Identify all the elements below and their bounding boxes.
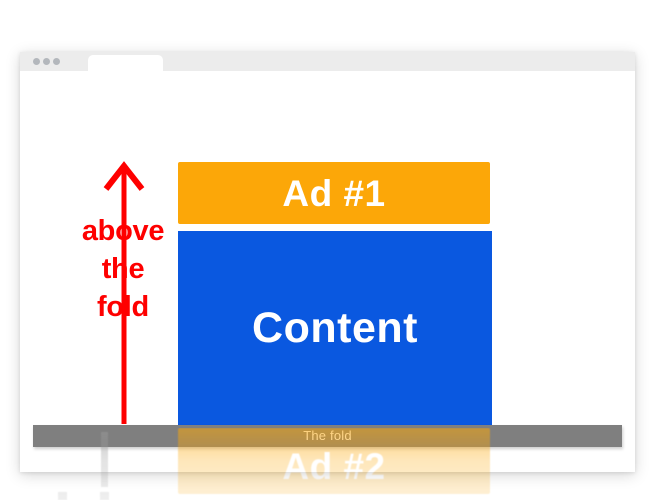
browser-tab[interactable] (88, 55, 163, 71)
window-dot-3-icon[interactable] (53, 58, 60, 65)
ad-one-block[interactable]: Ad #1 (178, 162, 490, 224)
ad-two-label: Ad #2 (178, 446, 490, 488)
window-dot-1-icon[interactable] (33, 58, 40, 65)
content-block[interactable]: Content (178, 231, 492, 426)
browser-window: above the fold Ad #1 Content The fold (20, 52, 635, 472)
ghost-square-2 (100, 492, 109, 500)
above-the-fold-annotation: above the fold (58, 156, 188, 456)
content-label: Content (178, 304, 492, 353)
diagram-canvas: above the fold Ad #1 Content The fold Ad… (0, 0, 660, 500)
ad-one-label: Ad #1 (178, 173, 490, 215)
browser-viewport: above the fold Ad #1 Content The fold (20, 71, 635, 472)
ghost-arrow-tail (101, 432, 108, 487)
above-the-fold-label: above the fold (58, 212, 188, 326)
ghost-square-1 (58, 492, 67, 500)
below-the-fold-region: Ad #2 (0, 428, 660, 500)
window-dot-2-icon[interactable] (43, 58, 50, 65)
window-controls (29, 52, 89, 71)
ad-two-block[interactable]: Ad #2 (178, 428, 490, 494)
browser-chrome (20, 52, 635, 71)
